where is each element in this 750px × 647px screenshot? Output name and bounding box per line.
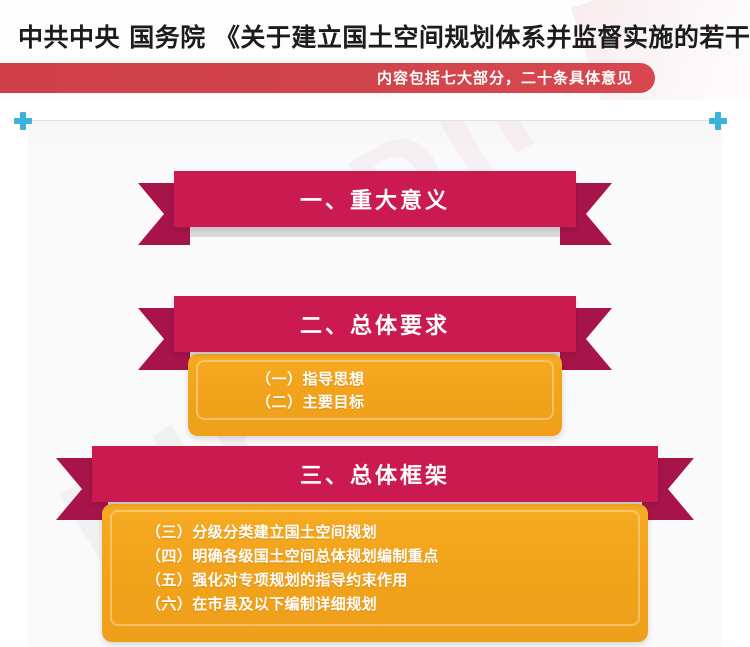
section-two-list: （一）指导思想 （二）主要目标: [188, 368, 562, 414]
plus-marker-icon-left: [14, 112, 32, 130]
subtitle-text: 内容包括七大部分，二十条具体意见: [377, 63, 633, 93]
section-one-heading-banner: 一、重大意义: [174, 171, 576, 227]
list-item-number: （四）: [146, 544, 192, 568]
content-card-inner: DIF DIF 一、重大意义: [28, 121, 722, 647]
list-item-number: （一）: [256, 368, 303, 391]
list-item-number: （二）: [256, 391, 303, 414]
section-three-list: （三）分级分类建立国土空间规划 （四）明确各级国土空间总体规划编制重点 （五）强…: [102, 520, 648, 616]
section-two-heading: 二、总体要求: [300, 308, 450, 340]
list-item-label: 强化对专项规划的指导约束作用: [192, 571, 408, 589]
list-item: （四）明确各级国土空间总体规划编制重点: [146, 544, 648, 568]
content-card: DIF DIF 一、重大意义: [28, 120, 722, 647]
list-item-number: （五）: [146, 568, 192, 592]
section-one-heading: 一、重大意义: [300, 183, 450, 215]
list-item: （三）分级分类建立国土空间规划: [146, 520, 648, 544]
section-one-ribbon: 一、重大意义: [138, 171, 612, 233]
ribbon-shadow: [182, 227, 568, 237]
list-item: （二）主要目标: [256, 391, 562, 414]
list-item: （一）指导思想: [256, 368, 562, 391]
page-header: 中共中央 国务院 《关于建立国土空间规划体系并监督实施的若干意见》 内容包括七大…: [0, 0, 750, 100]
list-item-label: 明确各级国土空间总体规划编制重点: [192, 547, 438, 565]
section-two: 二、总体要求 （一）指导思想 （二）主要目标: [28, 296, 722, 436]
plus-marker-icon-right: [709, 112, 727, 130]
list-item-label: 指导思想: [303, 370, 365, 388]
section-one: 一、重大意义: [28, 171, 722, 233]
section-three-heading: 三、总体框架: [300, 458, 450, 490]
list-item-label: 在市县及以下编制详细规划: [192, 595, 377, 613]
list-item: （五）强化对专项规划的指导约束作用: [146, 568, 648, 592]
section-two-ribbon: 二、总体要求: [138, 296, 612, 358]
list-item-label: 主要目标: [303, 393, 365, 411]
list-item-label: 分级分类建立国土空间规划: [192, 523, 377, 541]
list-item: （六）在市县及以下编制详细规划: [146, 592, 648, 616]
subtitle-bar: 内容包括七大部分，二十条具体意见: [0, 63, 655, 93]
section-three-panel: （三）分级分类建立国土空间规划 （四）明确各级国土空间总体规划编制重点 （五）强…: [102, 504, 648, 642]
section-three-heading-banner: 三、总体框架: [92, 446, 658, 502]
section-three-ribbon: 三、总体框架: [56, 446, 694, 508]
section-two-panel: （一）指导思想 （二）主要目标: [188, 354, 562, 436]
section-two-heading-banner: 二、总体要求: [174, 296, 576, 352]
page-title: 中共中央 国务院 《关于建立国土空间规划体系并监督实施的若干意见》: [18, 18, 750, 54]
list-item-number: （六）: [146, 592, 192, 616]
list-item-number: （三）: [146, 520, 192, 544]
section-three: 三、总体框架 （三）分级分类建立国土空间规划 （四）明确各级国土空间总体规划编制…: [28, 446, 722, 642]
